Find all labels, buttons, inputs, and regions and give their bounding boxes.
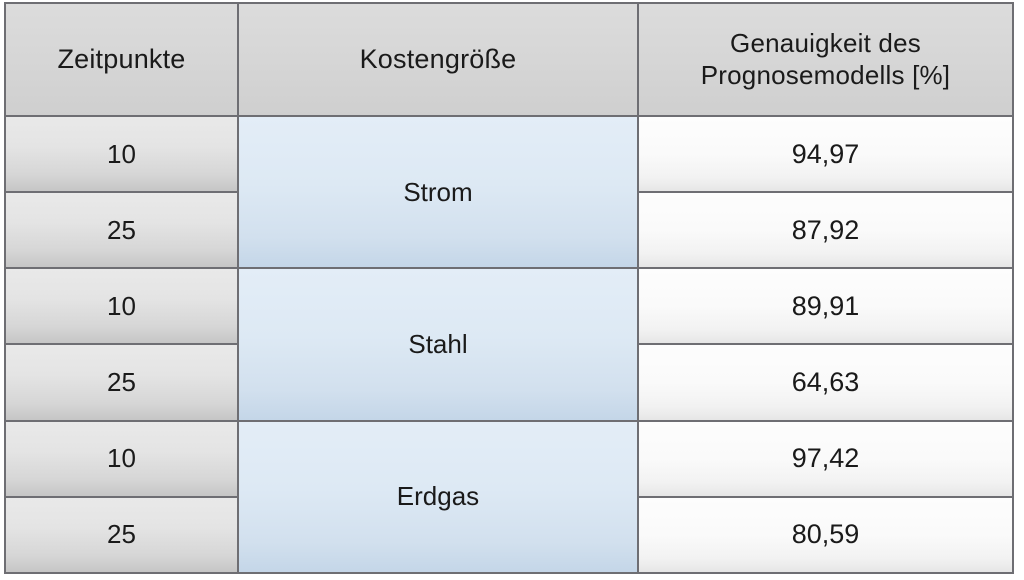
cell-genauigkeit: 89,91 bbox=[638, 268, 1013, 344]
cell-genauigkeit: 64,63 bbox=[638, 344, 1013, 420]
forecast-accuracy-table: Zeitpunkte Kostengröße Genauigkeit des P… bbox=[4, 2, 1014, 574]
table-row: 10 Stahl 89,91 bbox=[5, 268, 1013, 344]
column-header-genauigkeit-line2: Prognosemodells [%] bbox=[645, 60, 1006, 92]
cell-kostengroesse: Stahl bbox=[238, 268, 638, 420]
cell-genauigkeit: 87,92 bbox=[638, 192, 1013, 268]
cell-zeitpunkte: 10 bbox=[5, 268, 238, 344]
cell-genauigkeit: 94,97 bbox=[638, 116, 1013, 192]
table-row: 10 Strom 94,97 bbox=[5, 116, 1013, 192]
cell-zeitpunkte: 10 bbox=[5, 421, 238, 497]
column-header-kostengroesse: Kostengröße bbox=[238, 3, 638, 116]
column-header-zeitpunkte: Zeitpunkte bbox=[5, 3, 238, 116]
column-header-genauigkeit-line1: Genauigkeit des bbox=[645, 28, 1006, 60]
column-header-genauigkeit: Genauigkeit des Prognosemodells [%] bbox=[638, 3, 1013, 116]
cell-zeitpunkte: 25 bbox=[5, 497, 238, 573]
table-header-row: Zeitpunkte Kostengröße Genauigkeit des P… bbox=[5, 3, 1013, 116]
cell-zeitpunkte: 25 bbox=[5, 344, 238, 420]
results-table-container: Zeitpunkte Kostengröße Genauigkeit des P… bbox=[4, 2, 1012, 574]
cell-zeitpunkte: 10 bbox=[5, 116, 238, 192]
cell-genauigkeit: 97,42 bbox=[638, 421, 1013, 497]
table-row: 10 Erdgas 97,42 bbox=[5, 421, 1013, 497]
cell-zeitpunkte: 25 bbox=[5, 192, 238, 268]
cell-genauigkeit: 80,59 bbox=[638, 497, 1013, 573]
table-body: 10 Strom 94,97 25 87,92 10 Stahl 89,91 2… bbox=[5, 116, 1013, 573]
cell-kostengroesse: Erdgas bbox=[238, 421, 638, 573]
cell-kostengroesse: Strom bbox=[238, 116, 638, 268]
table-header: Zeitpunkte Kostengröße Genauigkeit des P… bbox=[5, 3, 1013, 116]
